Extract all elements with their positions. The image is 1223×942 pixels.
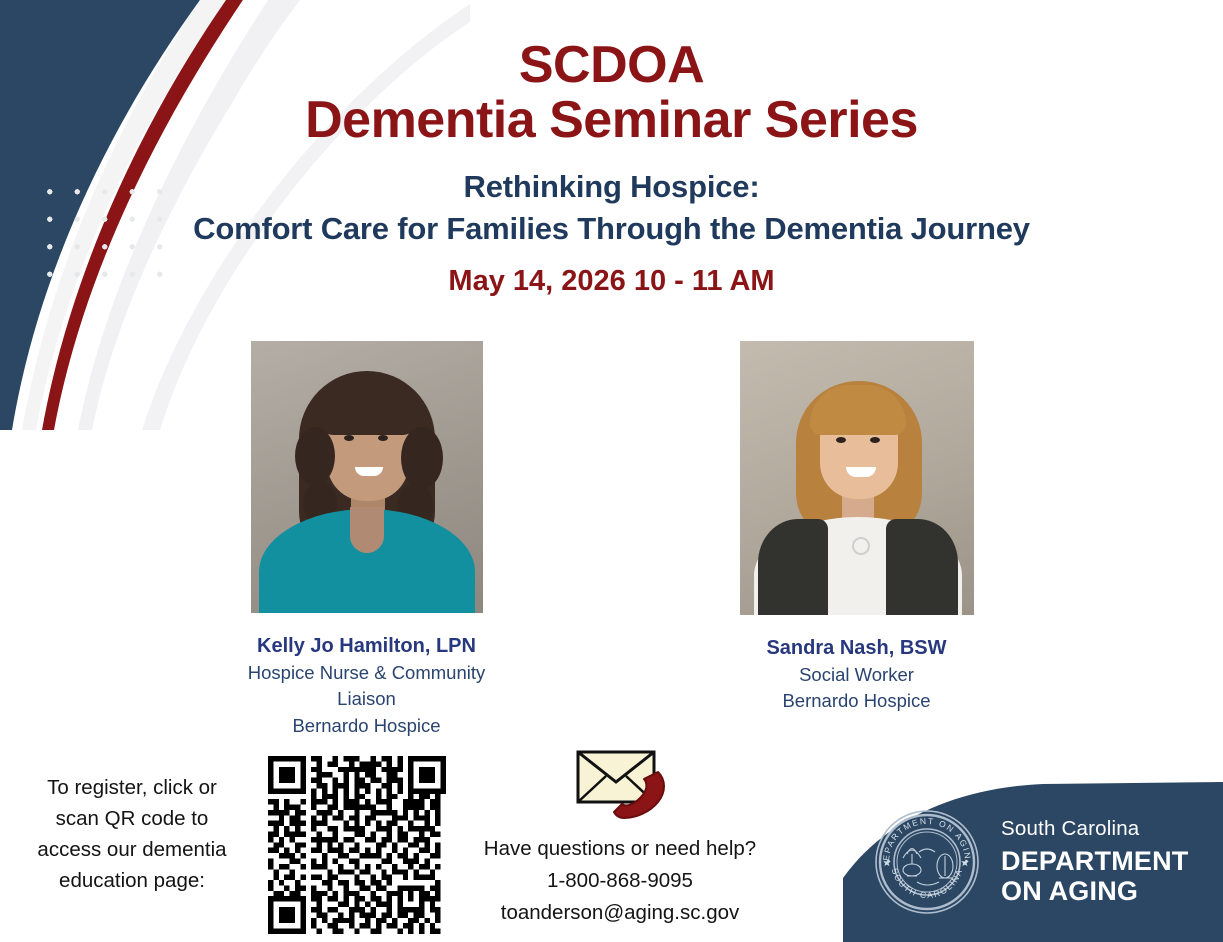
speaker-card: Sandra Nash, BSW Social Worker Bernardo … xyxy=(707,341,1007,739)
envelope-phone-icon xyxy=(566,744,678,828)
contact-email[interactable]: toanderson@aging.sc.gov xyxy=(420,897,820,929)
speaker-photo-kelly-jo-hamilton xyxy=(251,341,483,613)
subtitle-line-1: Rethinking Hospice: xyxy=(464,169,760,204)
contact-heading: Have questions or need help? xyxy=(420,833,820,865)
page-title: SCDOA Dementia Seminar Series xyxy=(0,38,1223,148)
speaker-role: Hospice Nurse & Community Liaison xyxy=(217,660,517,713)
agency-logo-text: South Carolina DEPARTMENT ON AGING xyxy=(1001,816,1189,906)
speaker-organization: Bernardo Hospice xyxy=(707,688,1007,715)
speaker-name: Sandra Nash, BSW xyxy=(707,635,1007,662)
sc-department-on-aging-seal-icon: DEPARTMENT ON AGING SOUTH CAROLINA xyxy=(873,808,981,916)
page-subtitle: Rethinking Hospice: Comfort Care for Fam… xyxy=(0,166,1223,249)
speaker-role: Social Worker xyxy=(707,662,1007,689)
logo-dept-line-2: ON AGING xyxy=(1001,876,1189,906)
speaker-card: Kelly Jo Hamilton, LPN Hospice Nurse & C… xyxy=(217,341,517,739)
speaker-name: Kelly Jo Hamilton, LPN xyxy=(217,633,517,660)
register-line-4: education page: xyxy=(12,865,252,896)
contact-phone[interactable]: 1-800-868-9095 xyxy=(420,865,820,897)
agency-logo-panel: DEPARTMENT ON AGING SOUTH CAROLINA S xyxy=(843,782,1223,942)
logo-state-name: South Carolina xyxy=(1001,816,1189,842)
logo-dept-line-1: DEPARTMENT xyxy=(1001,846,1189,876)
seminar-flyer: SCDOA Dementia Seminar Series Rethinking… xyxy=(0,0,1223,942)
svg-text:SOUTH CAROLINA: SOUTH CAROLINA xyxy=(890,867,965,900)
subtitle-line-2: Comfort Care for Families Through the De… xyxy=(0,208,1223,250)
register-line-2: scan QR code to xyxy=(12,803,252,834)
contact-info: Have questions or need help? 1-800-868-9… xyxy=(420,833,820,928)
title-line-1: SCDOA xyxy=(519,36,704,94)
speaker-photo-sandra-nash xyxy=(740,341,974,615)
title-line-2: Dementia Seminar Series xyxy=(0,93,1223,148)
register-line-3: access our dementia xyxy=(12,834,252,865)
event-date-time: May 14, 2026 10 - 11 AM xyxy=(0,265,1223,298)
speaker-list: Kelly Jo Hamilton, LPN Hospice Nurse & C… xyxy=(0,341,1223,739)
register-instructions: To register, click or scan QR code to ac… xyxy=(12,772,252,897)
speaker-organization: Bernardo Hospice xyxy=(217,713,517,740)
register-line-1: To register, click or xyxy=(12,772,252,803)
